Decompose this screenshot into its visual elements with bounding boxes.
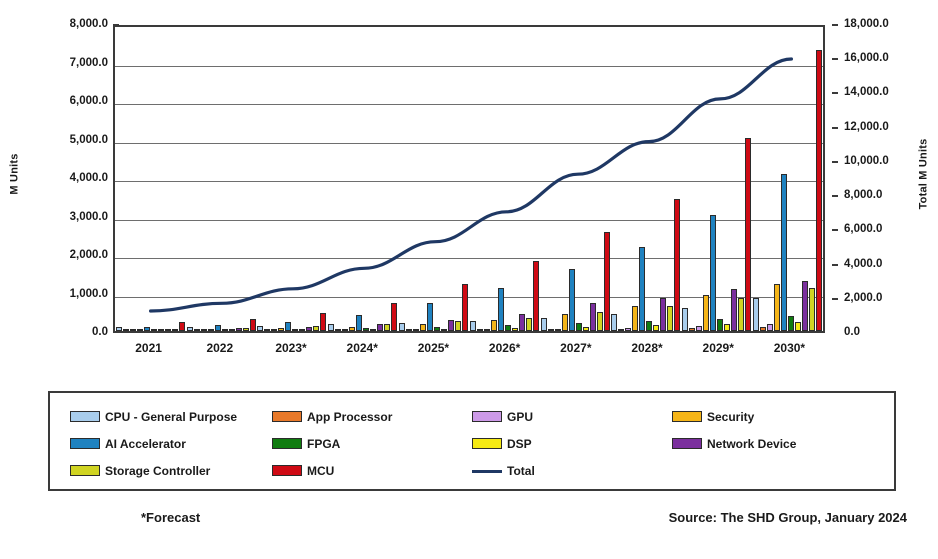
bar [328, 324, 334, 331]
x-axis-tick-label: 2030* [754, 338, 825, 360]
x-axis-tick-label: 2027* [540, 338, 611, 360]
bar [384, 324, 390, 331]
bar [179, 322, 185, 331]
bar [703, 295, 709, 331]
legend-label: GPU [507, 410, 533, 424]
bar [505, 325, 511, 331]
bar [172, 329, 178, 331]
bar [406, 329, 412, 331]
legend-item[interactable]: DSP [472, 430, 672, 457]
bar [583, 327, 589, 331]
bar [562, 314, 568, 331]
bar [512, 328, 518, 331]
bar [448, 320, 454, 331]
legend-color-swatch-icon [272, 411, 302, 422]
bar [123, 329, 129, 331]
x-axis-tick-label: 2022 [184, 338, 255, 360]
legend-label: Total [507, 464, 535, 478]
bar [342, 329, 348, 331]
y-axis-right-tickmark [832, 229, 838, 231]
y-axis-left-tick-label: 5,000.0 [16, 135, 108, 147]
y-axis-right-tickmark [832, 264, 838, 266]
y-axis-right-tick-label: 14,000.0 [844, 87, 889, 99]
legend-color-swatch-icon [70, 438, 100, 449]
bar [151, 329, 157, 331]
bar [313, 326, 319, 331]
bar [788, 316, 794, 331]
legend-color-swatch-icon [672, 438, 702, 449]
bar [767, 324, 773, 331]
y-axis-right-tickmark [832, 298, 838, 300]
bar [222, 329, 228, 331]
y-axis-right-tick-label: 0.0 [844, 327, 860, 339]
bar [738, 298, 744, 331]
bar [250, 319, 256, 331]
legend-item[interactable]: CPU - General Purpose [50, 403, 272, 430]
bar [774, 284, 780, 331]
bar [526, 318, 532, 331]
y-axis-right-tickmark [832, 195, 838, 197]
legend-item[interactable]: App Processor [272, 403, 472, 430]
y-axis-right-tickmark [832, 92, 838, 94]
legend-label: Storage Controller [105, 464, 210, 478]
bar [257, 326, 263, 331]
bar [689, 328, 695, 331]
bar [724, 324, 730, 331]
bar [802, 281, 808, 331]
legend-item[interactable]: FPGA [272, 430, 472, 457]
y-axis-right-tick-label: 8,000.0 [844, 190, 882, 202]
bar [717, 319, 723, 331]
bar-group [186, 27, 257, 331]
y-axis-right-tick-label: 16,000.0 [844, 53, 889, 65]
legend-color-swatch-icon [472, 411, 502, 422]
y-axis-left-tick-label: 2,000.0 [16, 250, 108, 262]
bar [130, 329, 136, 331]
bar [370, 329, 376, 331]
legend-row: Storage ControllerMCUTotal [50, 457, 894, 484]
bar [306, 327, 312, 331]
y-axis-right-tick-label: 10,000.0 [844, 156, 889, 168]
legend-item[interactable]: GPU [472, 403, 672, 430]
x-axis-tick-label: 2029* [683, 338, 754, 360]
bar [555, 329, 561, 331]
bar [292, 329, 298, 331]
bar [299, 329, 305, 331]
bar [646, 321, 652, 331]
bar [653, 325, 659, 331]
bar [462, 284, 468, 331]
y-axis-left-tick-label: 3,000.0 [16, 212, 108, 224]
bar [391, 303, 397, 331]
legend-label: DSP [507, 437, 532, 451]
bar [753, 298, 759, 331]
bar [201, 329, 207, 331]
legend-label: AI Accelerator [105, 437, 186, 451]
bar [569, 269, 575, 331]
bar [320, 313, 326, 331]
bar [229, 329, 235, 331]
bar [236, 328, 242, 331]
legend-row: CPU - General PurposeApp ProcessorGPUSec… [50, 403, 894, 430]
bar [363, 328, 369, 331]
legend-row: AI AcceleratorFPGADSPNetwork Device [50, 430, 894, 457]
legend-color-swatch-icon [272, 465, 302, 476]
bar [519, 314, 525, 331]
legend-color-swatch-icon [70, 411, 100, 422]
chart-legend: CPU - General PurposeApp ProcessorGPUSec… [48, 391, 896, 491]
legend-color-swatch-icon [472, 438, 502, 449]
x-axis-labels: 202120222023*2024*2025*2026*2027*2028*20… [113, 338, 825, 360]
y-axis-left-tick-label: 4,000.0 [16, 173, 108, 185]
source-note: Source: The SHD Group, January 2024 [669, 510, 907, 525]
legend-color-swatch-icon [272, 438, 302, 449]
bar [674, 199, 680, 331]
legend-color-swatch-icon [70, 465, 100, 476]
y-axis-right-tick-label: 2,000.0 [844, 293, 882, 305]
bar [441, 329, 447, 331]
bar [477, 329, 483, 331]
bar [484, 329, 490, 331]
legend-item[interactable]: Security [672, 403, 882, 430]
legend-color-swatch-icon [672, 411, 702, 422]
bar [667, 306, 673, 331]
bar [710, 215, 716, 331]
y-axis-right-tick-label: 4,000.0 [844, 259, 882, 271]
bar-group [257, 27, 328, 331]
bar [590, 303, 596, 331]
bar [576, 323, 582, 331]
bar [632, 306, 638, 331]
bar [194, 329, 200, 331]
x-axis-tick-label: 2023* [255, 338, 326, 360]
y-axis-left-tick-label: 1,000.0 [16, 289, 108, 301]
bar-group [115, 27, 186, 331]
bar [696, 326, 702, 331]
x-axis-tick-label: 2028* [611, 338, 682, 360]
bar-group [469, 27, 540, 331]
bar [625, 328, 631, 331]
bar [611, 314, 617, 331]
y-axis-right-tick-label: 18,000.0 [844, 19, 889, 31]
bar [215, 325, 221, 331]
bar [498, 288, 504, 331]
y-axis-right-tickmark [832, 24, 838, 26]
y-axis-left-tick-label: 8,000.0 [16, 19, 108, 31]
bar [533, 261, 539, 331]
y-axis-left-tick-label: 7,000.0 [16, 58, 108, 70]
bar [604, 232, 610, 331]
bar-group [540, 27, 611, 331]
x-axis-tick-label: 2024* [327, 338, 398, 360]
legend-label: FPGA [307, 437, 340, 451]
bar [264, 329, 270, 331]
legend-label: Network Device [707, 437, 796, 451]
bar [597, 312, 603, 331]
bar [187, 327, 193, 331]
bar [144, 327, 150, 331]
bar-groups [115, 27, 823, 331]
bar [165, 329, 171, 331]
bar-group [398, 27, 469, 331]
bar [455, 321, 461, 331]
legend-line-swatch-icon [472, 470, 502, 473]
plot-area [113, 25, 825, 333]
legend-label: Security [707, 410, 754, 424]
bar [285, 322, 291, 331]
bar [434, 327, 440, 331]
bar [137, 329, 143, 331]
legend-label: MCU [307, 464, 334, 478]
bar [208, 329, 214, 331]
y-axis-right-tick-label: 6,000.0 [844, 224, 882, 236]
legend-item[interactable]: AI Accelerator [50, 430, 272, 457]
bar [399, 323, 405, 331]
chart-root: M Units Total M Units 8,000.07,000.06,00… [0, 0, 938, 559]
y-axis-right-tick-label: 12,000.0 [844, 122, 889, 134]
forecast-note: *Forecast [141, 510, 200, 525]
bar [349, 327, 355, 331]
bar [541, 318, 547, 331]
bar [795, 322, 801, 331]
bar-group [752, 27, 823, 331]
bar [158, 329, 164, 331]
legend-label: App Processor [307, 410, 392, 424]
bar [760, 327, 766, 331]
y-axis-right-tickmark [832, 127, 838, 129]
bar-group [681, 27, 752, 331]
bar [427, 303, 433, 331]
bar [413, 329, 419, 331]
bar [278, 328, 284, 331]
bar-group [611, 27, 682, 331]
x-axis-tick-label: 2021 [113, 338, 184, 360]
bar [548, 329, 554, 331]
x-axis-tick-label: 2025* [398, 338, 469, 360]
bar [116, 327, 122, 331]
bar [731, 289, 737, 331]
bar [335, 329, 341, 331]
bar [377, 324, 383, 331]
y-axis-right-tickmark [832, 161, 838, 163]
bar [618, 329, 624, 331]
bar [470, 321, 476, 331]
bar [816, 50, 822, 331]
bar [420, 324, 426, 331]
bar [271, 329, 277, 331]
legend-item[interactable]: Total [472, 457, 672, 484]
legend-label: CPU - General Purpose [105, 410, 237, 424]
bar [781, 174, 787, 331]
bar [491, 320, 497, 331]
bar [660, 298, 666, 331]
bar [682, 308, 688, 331]
bar [745, 138, 751, 331]
legend-item[interactable]: MCU [272, 457, 472, 484]
y-axis-left-tick-label: 6,000.0 [16, 96, 108, 108]
x-axis-tick-label: 2026* [469, 338, 540, 360]
legend-item[interactable]: Storage Controller [50, 457, 272, 484]
y-axis-right-tickmark [832, 58, 838, 60]
bar [356, 315, 362, 331]
bar [639, 247, 645, 331]
legend-item[interactable]: Network Device [672, 430, 882, 457]
bar [243, 328, 249, 331]
y-axis-left-tick-label: 0.0 [16, 327, 108, 339]
bar-group [327, 27, 398, 331]
bar [809, 288, 815, 331]
